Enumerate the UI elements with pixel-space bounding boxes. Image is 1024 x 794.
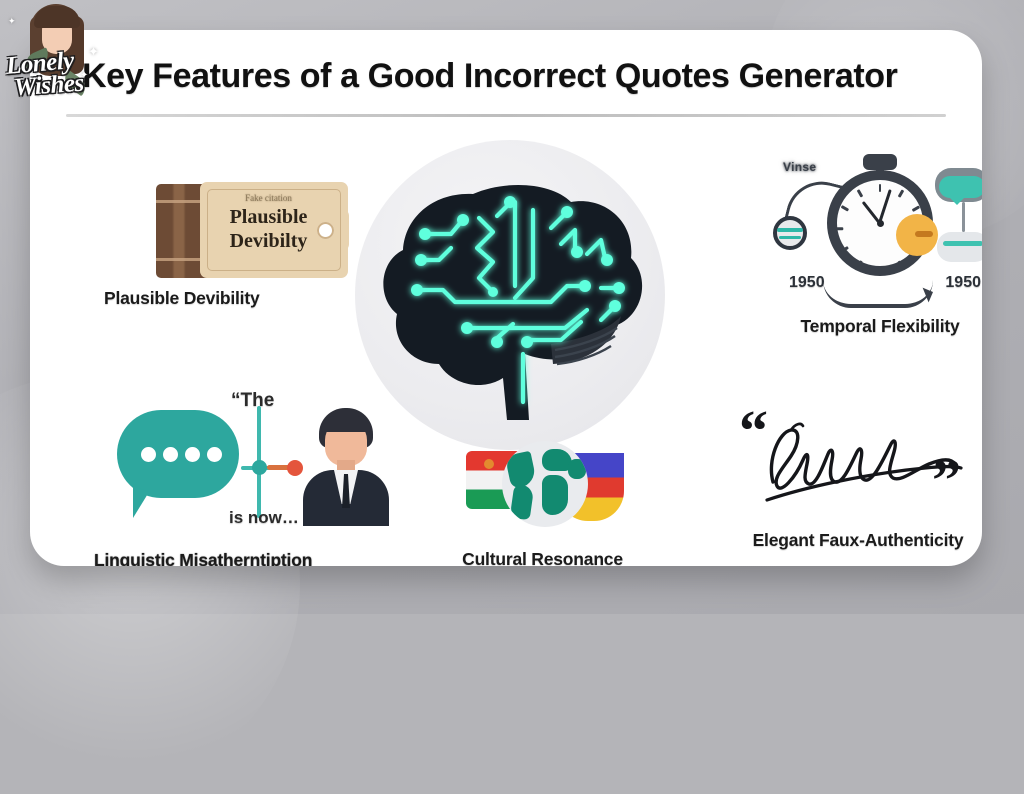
sparkle-icon: ✦	[8, 16, 16, 27]
feature-cultural-resonance: Cultural Resonance	[430, 435, 655, 566]
speech-bubble-bottom-icon	[937, 232, 982, 262]
tag-line-1: Plausible	[210, 206, 328, 229]
feature-caption: Plausible Devibility	[70, 288, 430, 309]
watermark-line-2: Wishes	[13, 70, 85, 103]
person-avatar-icon	[303, 408, 389, 524]
year-right-label: 1950	[945, 274, 981, 292]
feature-caption: Cultural Resonance	[430, 549, 655, 566]
globe-flags-icon	[430, 435, 655, 531]
globe-icon	[502, 441, 588, 527]
stopwatch-icon: Vinse	[730, 152, 982, 302]
quote-start-label: “The	[231, 390, 274, 412]
infographic-card: Key Features of a Good Incorrect Quotes …	[30, 30, 982, 566]
vinse-label: Vinse	[783, 160, 816, 174]
tag-icon: Fake citation Plausible Devibilty	[200, 182, 348, 278]
book-tag-icon: Fake citation Plausible Devibilty	[70, 180, 430, 280]
title-divider	[66, 114, 946, 117]
feature-caption: Elegant Faux-Authenticity	[698, 530, 982, 551]
tag-line-2: Devibilty	[210, 230, 328, 253]
speech-bubble-person-icon: “The is now…	[66, 392, 426, 532]
page-title: Key Features of a Good Incorrect Quotes …	[82, 57, 962, 96]
feature-caption: Linguistic Misatherntiption	[66, 550, 426, 566]
watermark-logo: Lonely Wishes ✦ ✦ ✦	[2, 0, 106, 112]
year-left-label: 1950	[789, 274, 825, 292]
signature-icon: “ ”	[698, 408, 982, 520]
feature-elegant-faux-authenticity: “ ” Elegant Faux-Authenticity	[698, 408, 982, 551]
tag-citation-label: Fake citation	[214, 193, 324, 203]
sparkle-icon: ✦	[88, 44, 99, 60]
timeline-endpoint-icon	[287, 460, 303, 476]
feature-linguistic-misattribution: “The is now…	[66, 392, 426, 566]
sparkle-icon: ✦	[80, 70, 88, 81]
quote-end-label: is now…	[229, 508, 299, 528]
feature-plausible-devibility: Fake citation Plausible Devibilty Plausi…	[70, 180, 430, 309]
wristwatch-icon	[773, 216, 807, 250]
feature-caption: Temporal Flexibility	[730, 316, 982, 337]
feature-temporal-flexibility: Vinse	[730, 152, 982, 337]
